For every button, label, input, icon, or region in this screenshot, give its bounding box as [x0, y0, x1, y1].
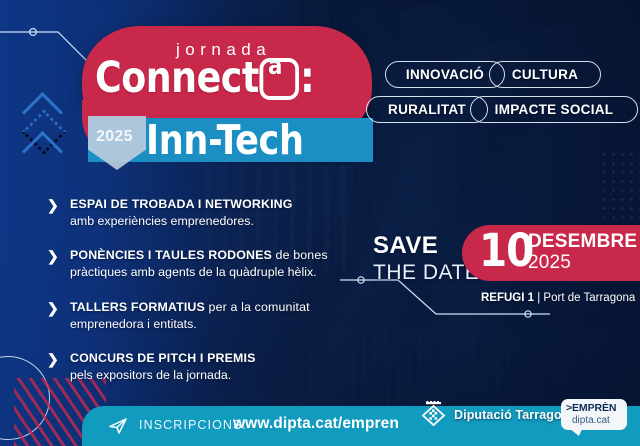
event-year: 2025	[528, 253, 571, 272]
chevron-right-icon: ❯	[47, 352, 59, 366]
list-item-heading: ESPAI DE TROBADA I NETWORKING	[70, 196, 352, 213]
list-item-heading-bold: CONCURS DE PITCH I PREMIS	[70, 351, 256, 365]
year-badge: 2025	[96, 128, 133, 146]
list-item-subtext: emprenedora i entitats.	[70, 316, 352, 333]
diputacio-logo: Diputació Tarragona	[420, 401, 577, 429]
list-item-subtext: pràctiques amb agents de la quàdruple hè…	[70, 264, 352, 281]
list-item: ❯PONÈNCIES I TAULES RODONES de bonespràc…	[47, 247, 352, 280]
list-item-heading-regular: per a la comunitat	[205, 300, 310, 314]
empren-logo-line2: dipta.cat	[572, 416, 610, 426]
event-month: DESEMBRE	[528, 232, 637, 251]
title-part-1: Connect	[95, 53, 259, 103]
list-item-heading-bold: PONÈNCIES I TAULES RODONES	[70, 248, 272, 262]
paper-plane-icon	[108, 417, 128, 435]
list-item-heading: TALLERS FORMATIUS per a la comunitat	[70, 299, 352, 316]
event-venue: REFUGI 1 | Port de Tarragona	[481, 293, 635, 305]
chevron-right-icon: ❯	[47, 301, 59, 315]
list-item: ❯ESPAI DE TROBADA I NETWORKINGamb experi…	[47, 196, 352, 229]
registration-label: INSCRIPCIONS:	[139, 419, 247, 432]
list-item: ❯CONCURS DE PITCH I PREMISpels expositor…	[47, 350, 352, 383]
page-subtitle: Inn-Tech	[146, 120, 304, 161]
event-poster: Moll de Costa jornada Connect: 2025 Inn-…	[0, 0, 640, 446]
save-the-date-line2: THE DATE	[373, 262, 479, 283]
list-item-heading: PONÈNCIES I TAULES RODONES de bones	[70, 247, 352, 264]
at-symbol-icon	[260, 58, 299, 100]
chevron-right-icon: ❯	[47, 249, 59, 263]
list-item-subtext: pels expositors de la jornada.	[70, 367, 352, 384]
list-item-heading-regular: de bones	[272, 248, 328, 262]
chevron-decoration-top	[28, 98, 60, 155]
dot-grid-decoration	[600, 150, 640, 220]
venue-location: | Port de Tarragona	[534, 292, 635, 304]
page-title: Connect:	[95, 56, 314, 100]
diputacio-crest-icon	[420, 401, 447, 429]
chevron-right-icon: ❯	[47, 198, 59, 212]
feature-list: ❯ESPAI DE TROBADA I NETWORKINGamb experi…	[47, 196, 352, 402]
diputacio-name: Diputació Tarragona	[454, 408, 577, 422]
tag-pill-1: CULTURA	[489, 61, 601, 88]
registration-url[interactable]: www.dipta.cat/empren	[233, 416, 399, 432]
venue-name: REFUGI 1	[481, 292, 534, 304]
list-item-heading-bold: TALLERS FORMATIUS	[70, 300, 205, 314]
tag-pill-0: INNOVACIÓ	[385, 61, 505, 88]
list-item: ❯TALLERS FORMATIUS per a la comunitatemp…	[47, 299, 352, 332]
list-item-subtext: amb experiències emprenedores.	[70, 213, 352, 230]
save-the-date-line1: SAVE	[373, 234, 438, 258]
event-day: 10	[479, 228, 533, 273]
list-item-heading: CONCURS DE PITCH I PREMIS	[70, 350, 352, 367]
title-part-2: :	[300, 53, 314, 103]
empren-logo-line1: >EMPRÈN	[566, 403, 616, 414]
list-item-heading-bold: ESPAI DE TROBADA I NETWORKING	[70, 197, 293, 211]
tag-pill-3: IMPACTE SOCIAL	[470, 96, 638, 123]
